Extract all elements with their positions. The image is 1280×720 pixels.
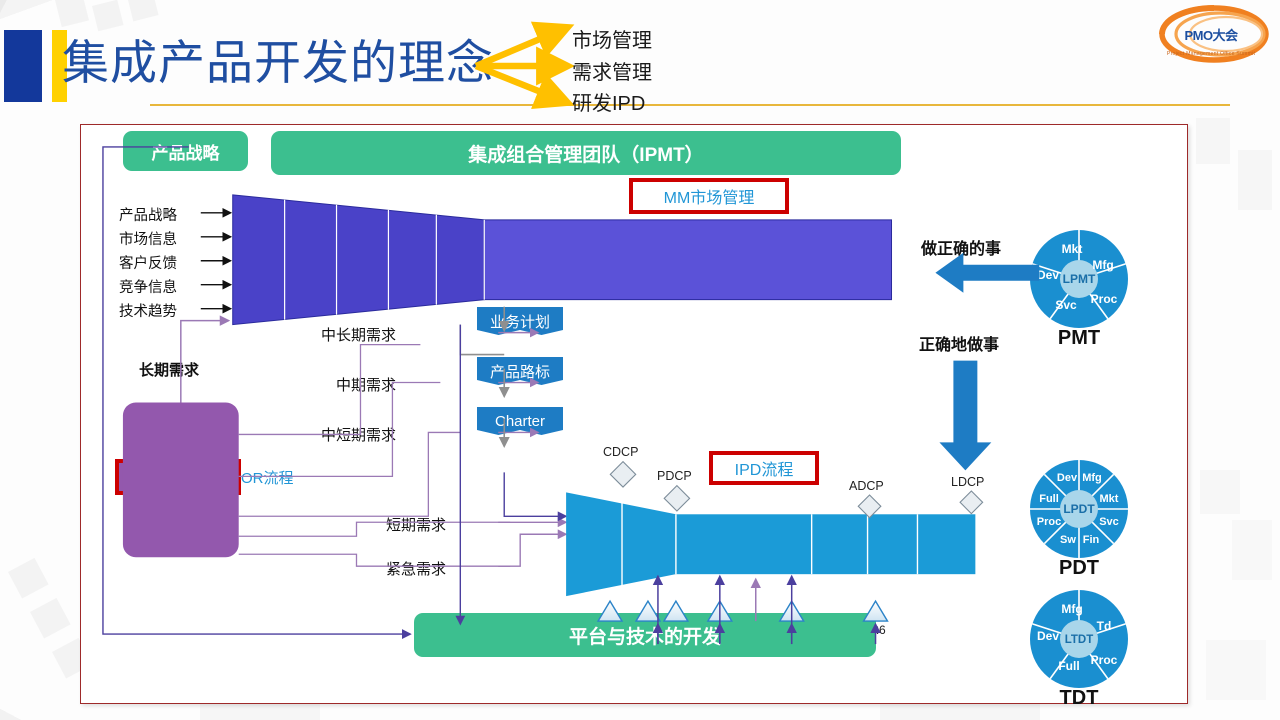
connector-or-demands	[239, 345, 511, 567]
connector-urgent-demand	[498, 534, 566, 566]
ipd-concept-diagram	[81, 125, 1187, 704]
ipd-checkpoint-diamonds	[610, 462, 982, 518]
header-note-ipd: 研发IPD	[572, 87, 645, 116]
header-accent-bar-blue	[4, 30, 42, 102]
ipd-process-shape	[566, 492, 975, 596]
mm-funnel-shape	[233, 195, 892, 325]
slide-header: 集成产品开发的理念 市场管理 需求管理 研发IPD	[0, 0, 1280, 120]
header-arrows-icon	[470, 18, 580, 113]
page-title: 集成产品开发的理念	[62, 26, 494, 100]
do-things-right-arrow	[939, 361, 991, 471]
platform-input-arrows	[658, 624, 876, 644]
logo-subtitle: Project Management Office Summit	[1156, 51, 1266, 57]
logo-text: PMO大会	[1172, 25, 1250, 44]
connector-or-to-funnel	[181, 321, 229, 403]
pmo-summit-logo: PMO大会 Project Management Office Summit	[1150, 4, 1272, 66]
header-note-demand-management: 需求管理	[572, 56, 652, 85]
header-note-market-management: 市场管理	[572, 24, 652, 53]
title-underline	[150, 104, 1230, 106]
ipd-tr-triangles	[598, 601, 887, 621]
input-arrows	[201, 213, 231, 309]
connector-funnel-to-docs	[460, 325, 504, 355]
diagram-frame: 产品战略 集成组合管理团队（IPMT） 产品战略 市场信息 客户反馈 竞争信息 …	[80, 124, 1188, 704]
or-demand-box-shape	[123, 402, 239, 557]
connector-charter-to-ipd	[504, 472, 566, 516]
do-right-things-arrow	[935, 253, 1039, 293]
